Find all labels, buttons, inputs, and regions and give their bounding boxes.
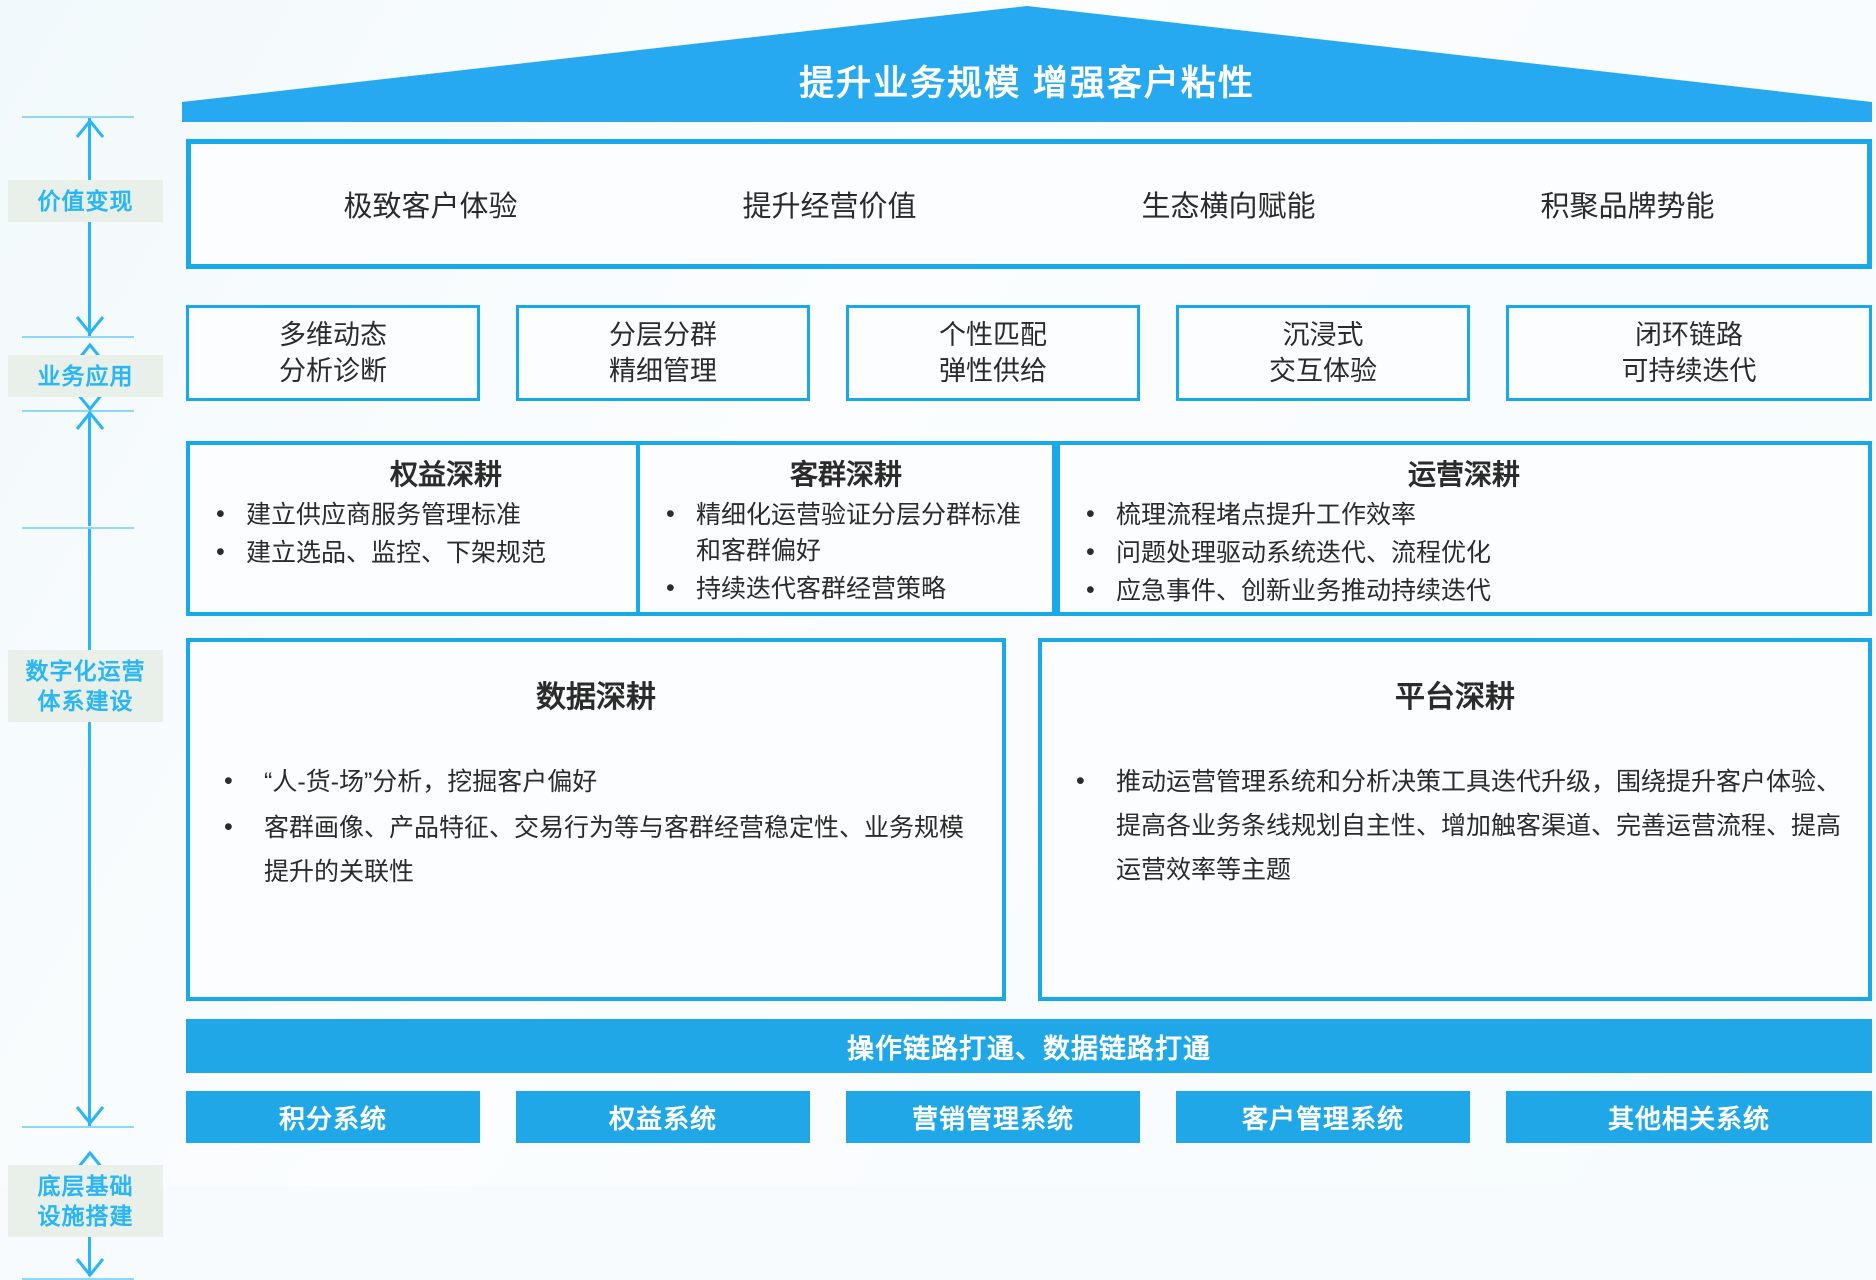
rail-label-line: 设施搭建 (8, 1201, 163, 1231)
deep-card-title: 数据深耕 (190, 672, 1002, 716)
rail-divider-4 (22, 527, 134, 529)
deep-card-bullets: 精细化运营验证分层分群标准和客群偏好 持续迭代客群经营策略 (640, 497, 1052, 607)
app-line-1: 沉浸式 (1269, 317, 1377, 353)
app-box-text: 多维动态 分析诊断 (279, 317, 387, 389)
app-line-1: 个性匹配 (939, 317, 1047, 353)
rail-label-business-application: 业务应用 (8, 355, 163, 397)
bullet-item: 应急事件、创新业务推动持续迭代 (1070, 573, 1854, 609)
bullet-item: 精细化运营验证分层分群标准和客群偏好 (650, 497, 1038, 569)
app-box-text: 闭环链路 可持续迭代 (1622, 317, 1757, 389)
bullet-item: 推动运营管理系统和分析决策工具迭代升级，围绕提升客户体验、提高各业务条线规划自主… (1060, 760, 1854, 892)
rail-label-line: 体系建设 (8, 686, 163, 716)
link-through-bar: 操作链路打通、数据链路打通 (186, 1019, 1872, 1073)
app-box-closed-loop[interactable]: 闭环链路 可持续迭代 (1506, 305, 1872, 401)
rail-label-value-realization: 价值变现 (8, 180, 163, 222)
app-line-2: 精细管理 (609, 353, 717, 389)
bullet-item: 问题处理驱动系统迭代、流程优化 (1070, 535, 1854, 571)
app-line-2: 弹性供给 (939, 353, 1047, 389)
app-box-text: 沉浸式 交互体验 (1269, 317, 1377, 389)
deep-card-platform[interactable]: 平台深耕 推动运营管理系统和分析决策工具迭代升级，围绕提升客户体验、提高各业务条… (1038, 638, 1872, 1001)
app-line-2: 分析诊断 (279, 353, 387, 389)
deep-card-bullets: “人-货-场”分析，挖掘客户偏好 客群画像、产品特征、交易行为等与客群经营稳定性… (190, 760, 1002, 894)
rail-label-line: 业务应用 (8, 361, 163, 391)
value-item-1: 提升经营价值 (742, 183, 916, 225)
app-box-text: 个性匹配 弹性供给 (939, 317, 1047, 389)
rail-spine-1 (88, 118, 91, 336)
value-realization-items: 极致客户体验 提升经营价值 生态横向赋能 积聚品牌势能 (191, 144, 1867, 264)
deep-card-bullets: 建立供应商服务管理标准 建立选品、监控、下架规范 (190, 497, 702, 571)
deep-card-operations[interactable]: 运营深耕 梳理流程堵点提升工作效率 问题处理驱动系统迭代、流程优化 应急事件、创… (1056, 441, 1872, 616)
deep-card-title: 权益深耕 (190, 453, 702, 493)
rail-label-line: 数字化运营 (8, 656, 163, 686)
bullet-item: “人-货-场”分析，挖掘客户偏好 (208, 760, 988, 804)
bullet-item: 梳理流程堵点提升工作效率 (1070, 497, 1854, 533)
deep-card-bullets: 梳理流程堵点提升工作效率 问题处理驱动系统迭代、流程优化 应急事件、创新业务推动… (1060, 497, 1868, 609)
rail-divider-2 (22, 336, 134, 338)
diagram-canvas: 极致客户体验 提升经营价值 生态横向赋能 积聚品牌势能 多维动态 分析诊断 分层… (182, 0, 1876, 1186)
app-line-2: 交互体验 (1269, 353, 1377, 389)
app-box-personalized-match[interactable]: 个性匹配 弹性供给 (846, 305, 1140, 401)
rail-label-line: 价值变现 (8, 186, 163, 216)
deep-card-title: 平台深耕 (1042, 672, 1868, 716)
system-box-other[interactable]: 其他相关系统 (1506, 1091, 1872, 1143)
bullet-item: 客群画像、产品特征、交易行为等与客群经营稳定性、业务规模提升的关联性 (208, 806, 988, 894)
system-box-rights[interactable]: 权益系统 (516, 1091, 810, 1143)
value-realization-box[interactable]: 极致客户体验 提升经营价值 生态横向赋能 积聚品牌势能 (186, 139, 1872, 269)
arrow-down-icon-1 (74, 316, 106, 336)
deep-card-bullets: 推动运营管理系统和分析决策工具迭代升级，围绕提升客户体验、提高各业务条线规划自主… (1042, 760, 1868, 892)
deep-card-title: 运营深耕 (1060, 453, 1868, 493)
system-box-marketing[interactable]: 营销管理系统 (846, 1091, 1140, 1143)
arrow-up-icon-1 (74, 118, 106, 138)
value-item-2: 生态横向赋能 (1141, 183, 1315, 225)
app-box-text: 分层分群 精细管理 (609, 317, 717, 389)
deep-card-data[interactable]: 数据深耕 “人-货-场”分析，挖掘客户偏好 客群画像、产品特征、交易行为等与客群… (186, 638, 1006, 1001)
arrow-down-icon-4 (74, 1258, 106, 1278)
app-line-2: 可持续迭代 (1622, 353, 1757, 389)
deep-card-title: 客群深耕 (640, 453, 1052, 493)
rail-spine-3 (88, 529, 91, 1126)
bullet-item: 建立供应商服务管理标准 (200, 497, 688, 533)
app-box-immersive-experience[interactable]: 沉浸式 交互体验 (1176, 305, 1470, 401)
rail-divider-5 (22, 1126, 134, 1128)
app-line-1: 分层分群 (609, 317, 717, 353)
left-rail: 价值变现 业务应用 数字化运营 体系建设 底层基础 设施搭建 (0, 110, 178, 1170)
rail-label-infrastructure: 底层基础 设施搭建 (8, 1165, 163, 1237)
app-line-1: 多维动态 (279, 317, 387, 353)
app-box-multidim-analysis[interactable]: 多维动态 分析诊断 (186, 305, 480, 401)
bullet-item: 建立选品、监控、下架规范 (200, 535, 688, 571)
value-item-3: 积聚品牌势能 (1540, 183, 1714, 225)
system-box-customer[interactable]: 客户管理系统 (1176, 1091, 1470, 1143)
bullet-item: 持续迭代客群经营策略 (650, 571, 1038, 607)
app-line-1: 闭环链路 (1622, 317, 1757, 353)
arrow-up-icon-3 (74, 410, 106, 430)
deep-card-rights[interactable]: 权益深耕 建立供应商服务管理标准 建立选品、监控、下架规范 (186, 441, 706, 616)
system-box-points[interactable]: 积分系统 (186, 1091, 480, 1143)
arrow-down-icon-3 (74, 1106, 106, 1126)
value-item-0: 极致客户体验 (343, 183, 517, 225)
app-box-segmentation[interactable]: 分层分群 精细管理 (516, 305, 810, 401)
deep-card-customer-group[interactable]: 客群深耕 精细化运营验证分层分群标准和客群偏好 持续迭代客群经营策略 (636, 441, 1056, 616)
rail-label-line: 底层基础 (8, 1171, 163, 1201)
rail-label-digital-operations: 数字化运营 体系建设 (8, 650, 163, 722)
